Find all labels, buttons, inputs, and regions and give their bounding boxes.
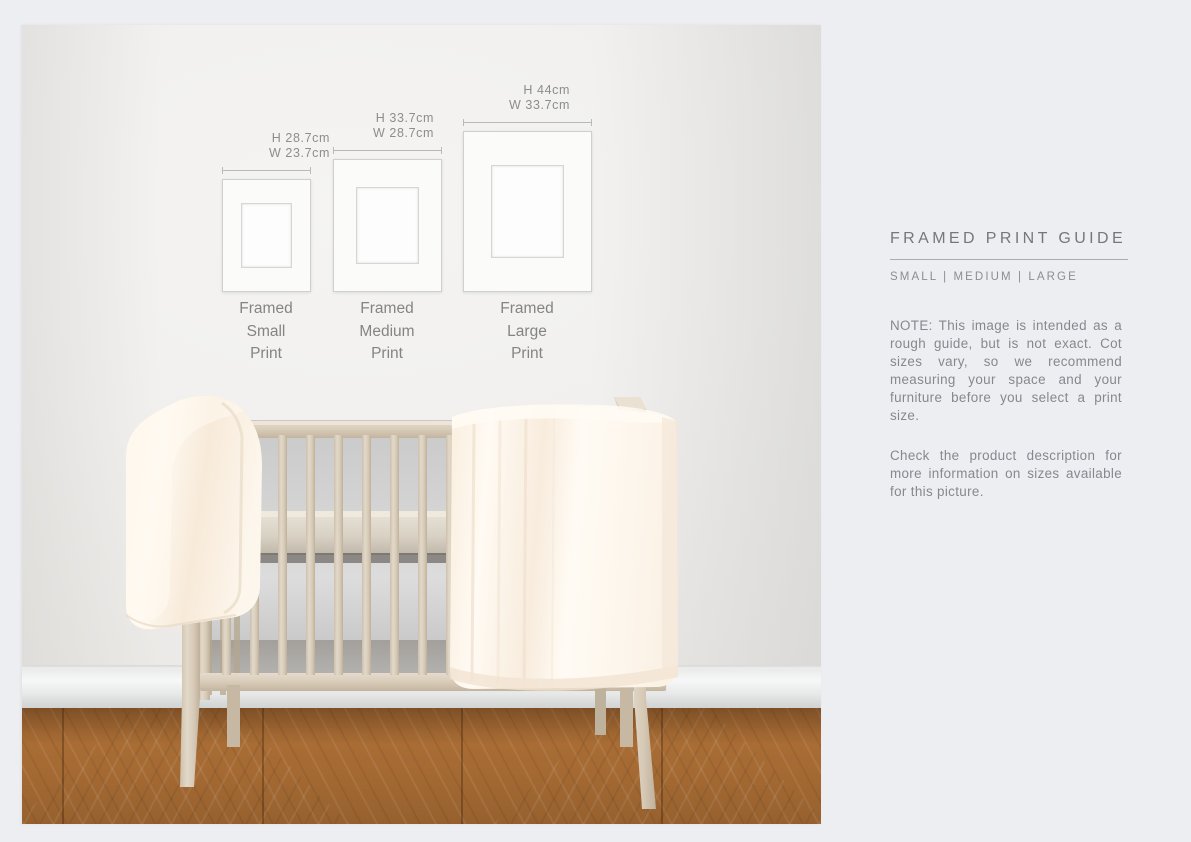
guide-page: H 28.7cm W 23.7cm Framed Small Print H 3… (0, 0, 1191, 842)
cot-illustration (22, 25, 821, 824)
blanket-left (126, 396, 262, 629)
title-divider (890, 259, 1128, 260)
product-description-paragraph: Check the product description for more i… (890, 447, 1122, 501)
size-options-subtitle: SMALL | MEDIUM | LARGE (890, 271, 1135, 283)
note-paragraph: NOTE: This image is intended as a rough … (890, 317, 1122, 425)
room-photo: H 28.7cm W 23.7cm Framed Small Print H 3… (22, 25, 821, 824)
blanket-right (450, 404, 678, 690)
page-title: FRAMED PRINT GUIDE (890, 230, 1135, 248)
print-guide-info-panel: FRAMED PRINT GUIDE SMALL | MEDIUM | LARG… (890, 230, 1135, 501)
